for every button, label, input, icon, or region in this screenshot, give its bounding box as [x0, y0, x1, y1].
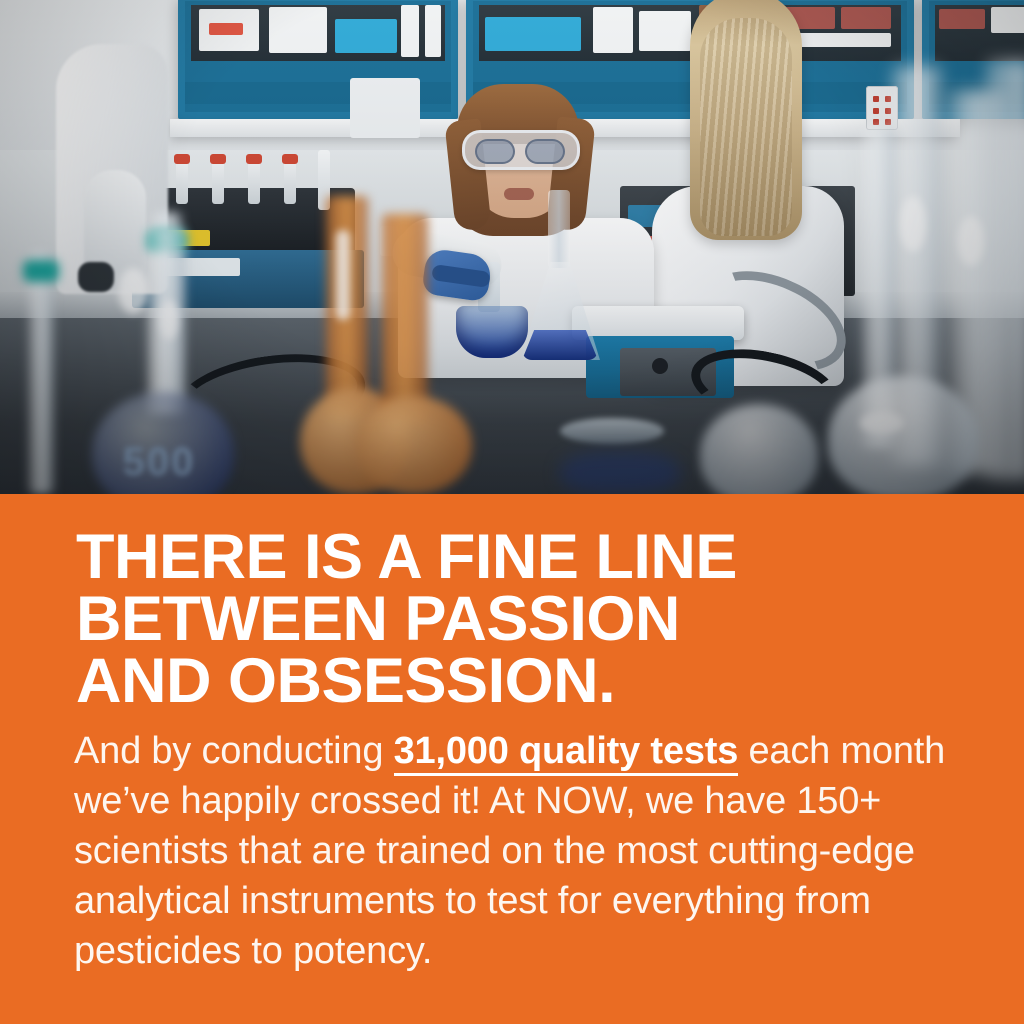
foreground-round-flask-right-2 [700, 404, 818, 494]
glass-highlight [160, 300, 178, 340]
shelf-item [939, 9, 985, 29]
page-title: THERE IS A FINE LINE BETWEEN PASSION AND… [76, 526, 956, 712]
foreground-petri-dish [560, 418, 664, 444]
shelf-item [209, 23, 243, 35]
scientist-left-hand [78, 262, 114, 292]
instrument-knob [652, 358, 668, 374]
test-tube [284, 160, 296, 204]
shelf-item [425, 5, 441, 57]
safety-goggles [462, 130, 580, 170]
wall-panel [350, 78, 420, 138]
stat-emphasis-quality-tests: 31,000 quality tests [394, 730, 739, 776]
shelf-item [841, 7, 891, 29]
body-paragraph: And by conducting 31,000 quality tests e… [74, 726, 954, 976]
shelf-item [269, 7, 327, 53]
orange-content-panel: THERE IS A FINE LINE BETWEEN PASSION AND… [0, 494, 1024, 1024]
social-graphic-card: 500 THERE IS A FINE LINE BETWEEN PASSION… [0, 0, 1024, 1024]
held-flask-blue-liquid [456, 306, 528, 358]
foreground-amber-bulb-2 [356, 396, 472, 494]
shelf-item [991, 7, 1024, 33]
test-tube [212, 160, 224, 204]
glass-highlight [900, 196, 926, 252]
foreground-volumetric-amber-2 [382, 214, 428, 424]
scientist-right-hair-strands [700, 18, 792, 236]
erlenmeyer-neck [548, 190, 570, 268]
shelf-item [401, 5, 419, 57]
test-tube [248, 160, 260, 204]
analytical-balance-top [572, 306, 744, 340]
scientist-center-mouth [504, 188, 534, 200]
glass-highlight [860, 412, 904, 434]
shelf-item [335, 19, 397, 53]
flask-500-label: 500 [110, 440, 208, 485]
lab-photo: 500 [0, 0, 1024, 494]
shelf-item [639, 11, 691, 51]
glass-highlight [118, 268, 148, 314]
foreground-pipette-left [28, 252, 54, 494]
goggle-lens-left [475, 139, 515, 164]
foreground-glass-column-4 [986, 60, 1024, 480]
shelf-item [485, 17, 581, 51]
body-lead: And by conducting [74, 730, 394, 772]
shelf-item [593, 7, 633, 53]
erlenmeyer-blue-liquid [522, 330, 598, 360]
foreground-round-flask-right [828, 376, 978, 494]
foreground-blue-puddle [560, 452, 680, 494]
test-tube [176, 160, 188, 204]
glass-highlight [958, 216, 984, 266]
glass-highlight [336, 230, 350, 320]
goggle-lens-right [525, 139, 565, 164]
